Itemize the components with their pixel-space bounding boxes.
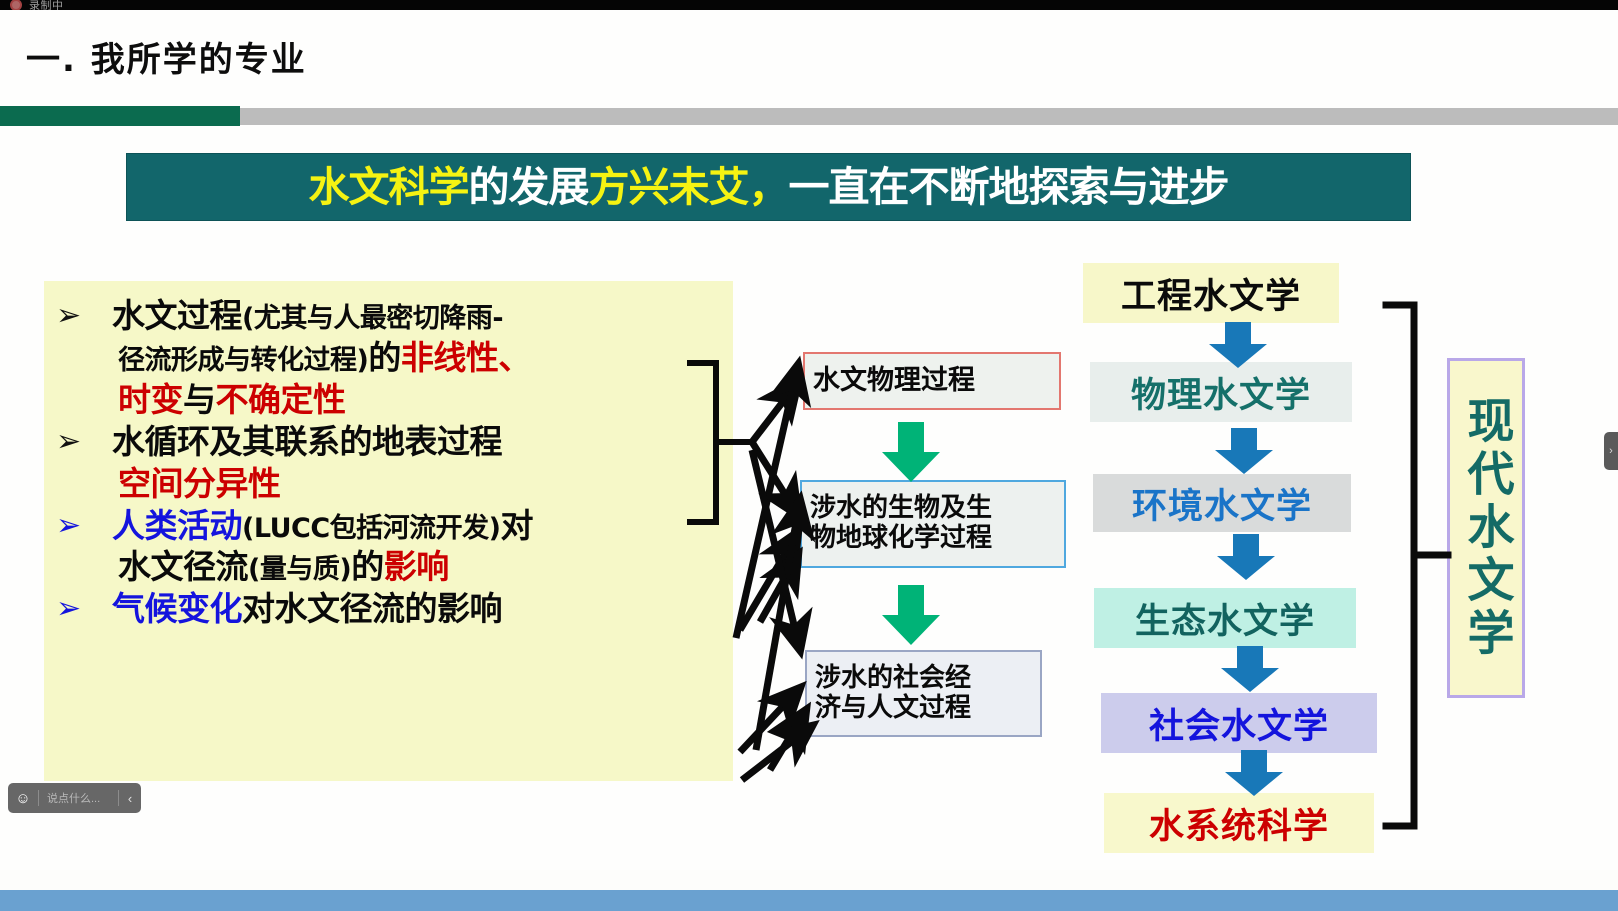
bullet-seg: 与 (183, 380, 216, 419)
bullet-seg: 的 (351, 547, 384, 586)
process-box-line: 物地球化学过程 (810, 524, 992, 554)
bullet-line: 径流形成与转化过程)的非线性、 (56, 337, 723, 379)
bullet-seg: (量与质) (248, 554, 351, 585)
bullet-text: 水文径流(量与质)的影响 (118, 546, 449, 588)
process-box-biogeochemical: 涉水的生物及生 物地球化学过程 (800, 480, 1066, 568)
bullet-text: 水循环及其联系的地表过程 (112, 421, 502, 463)
bottom-status-bar (0, 890, 1618, 911)
bullet-seg: 、 (498, 338, 531, 377)
bullet-seg: 水循环及其联系的地表过程 (112, 422, 502, 461)
headline-part-1: 水文科学 (309, 163, 469, 211)
discipline-box-environmental: 环境水文学 (1093, 474, 1351, 532)
bullet-marker-icon: ➢ (56, 507, 112, 545)
blue-down-arrow-icon (1214, 534, 1278, 582)
process-box-socioeconomic: 涉水的社会经 济与人文过程 (805, 650, 1042, 737)
bullet-line: ➢ 人类活动(LUCC包括河流开发)对 (56, 505, 723, 547)
title-rule-green (0, 106, 240, 126)
bullet-line: 空间分异性 (56, 463, 723, 505)
bullet-seg: 对水文径流的影响 (242, 589, 502, 628)
process-box-line: 济与人文过程 (815, 694, 971, 724)
bullet-seg: 径流形成与转化过程) (118, 345, 368, 376)
discipline-box-ecological: 生态水文学 (1094, 588, 1356, 648)
bullet-text: 水文过程(尤其与人最密切降雨- (112, 295, 503, 337)
smiley-icon[interactable]: ☺ (8, 790, 38, 807)
recording-top-bar: 录制中 (0, 0, 1618, 10)
bullet-seg: 水文径流 (118, 547, 248, 586)
blue-down-arrow-icon (1222, 750, 1286, 798)
process-box-line: 涉水的生物及生 (810, 494, 992, 524)
headline-banner-text: 水文科学的发展方兴未艾，一直在不断地探索与进步 (309, 167, 1229, 208)
chevron-left-icon[interactable]: ‹ (119, 791, 141, 806)
process-box-physical: 水文物理过程 (803, 352, 1061, 410)
bullet-panel: ➢ 水文过程(尤其与人最密切降雨- 径流形成与转化过程)的非线性、 时变与不确定… (44, 281, 733, 781)
headline-part-4: 一直在不断地探索与进步 (789, 163, 1229, 211)
comment-bar[interactable]: ☺ 说点什么... ‹ (8, 783, 141, 813)
bullet-marker-icon: ➢ (56, 297, 112, 335)
bullet-seg: 人类活动 (112, 506, 242, 545)
crossing-arrows (736, 365, 812, 780)
page-title: 一. 我所学的专业 (26, 32, 307, 81)
bullet-seg: 影响 (384, 547, 449, 586)
slide-canvas: 一. 我所学的专业 水文科学的发展方兴未艾，一直在不断地探索与进步 ➢ 水文过程… (0, 10, 1618, 870)
bullet-seg: 空间分异性 (118, 464, 281, 503)
bullet-text: 气候变化对水文径流的影响 (112, 588, 502, 630)
bullet-line: ➢ 气候变化对水文径流的影响 (56, 588, 723, 630)
process-box-line: 涉水的社会经 (815, 664, 971, 694)
bullet-text: 空间分异性 (118, 463, 281, 505)
bullet-seg: 的 (368, 338, 401, 377)
bullet-line: ➢ 水循环及其联系的地表过程 (56, 421, 723, 463)
comment-input[interactable]: 说点什么... (39, 790, 118, 806)
bullet-seg: 对 (500, 506, 533, 545)
bullet-seg: (尤其与人最密切降雨- (242, 303, 503, 334)
bullet-line: ➢ 水文过程(尤其与人最密切降雨- (56, 295, 723, 337)
headline-part-3: 方兴未艾， (589, 163, 789, 211)
discipline-box-physical: 物理水文学 (1090, 362, 1352, 422)
green-down-arrow-icon (878, 585, 944, 647)
bullet-seg: 时变 (118, 380, 183, 419)
bullet-line: 水文径流(量与质)的影响 (56, 546, 723, 588)
screen-root: 录制中 一. 我所学的专业 水文科学的发展方兴未艾，一直在不断地探索与进步 ➢ … (0, 0, 1618, 911)
green-down-arrow-icon (878, 422, 944, 484)
summary-box-modern-hydrology: 现代水文学 (1447, 358, 1525, 698)
bullet-seg: 气候变化 (112, 589, 242, 628)
blue-down-arrow-icon (1218, 646, 1282, 694)
blue-down-arrow-icon (1212, 428, 1276, 476)
bullet-marker-icon: ➢ (56, 423, 112, 461)
right-bracket (1386, 305, 1448, 826)
blue-down-arrow-icon (1206, 322, 1270, 370)
bullet-text: 径流形成与转化过程)的非线性、 (118, 337, 531, 379)
bullet-seg: 非线性 (401, 338, 499, 377)
title-rule-gray (240, 108, 1618, 125)
bullet-seg: (LUCC包括河流开发) (242, 513, 500, 544)
chevron-right-icon[interactable]: › (1604, 432, 1618, 470)
headline-part-2: 的发展 (469, 163, 589, 211)
bullet-marker-icon: ➢ (56, 590, 112, 628)
bullet-text: 人类活动(LUCC包括河流开发)对 (112, 505, 533, 547)
bullet-text: 时变与不确定性 (118, 379, 346, 421)
discipline-box-engineering: 工程水文学 (1083, 263, 1339, 323)
bullet-line: 时变与不确定性 (56, 379, 723, 421)
bullet-seg: 水文过程 (112, 296, 242, 335)
summary-box-label: 现代水文学 (1463, 396, 1510, 661)
discipline-box-water-system: 水系统科学 (1104, 793, 1374, 853)
headline-banner: 水文科学的发展方兴未艾，一直在不断地探索与进步 (126, 153, 1411, 221)
bullet-seg: 不确定性 (216, 380, 346, 419)
discipline-box-social: 社会水文学 (1101, 693, 1377, 753)
